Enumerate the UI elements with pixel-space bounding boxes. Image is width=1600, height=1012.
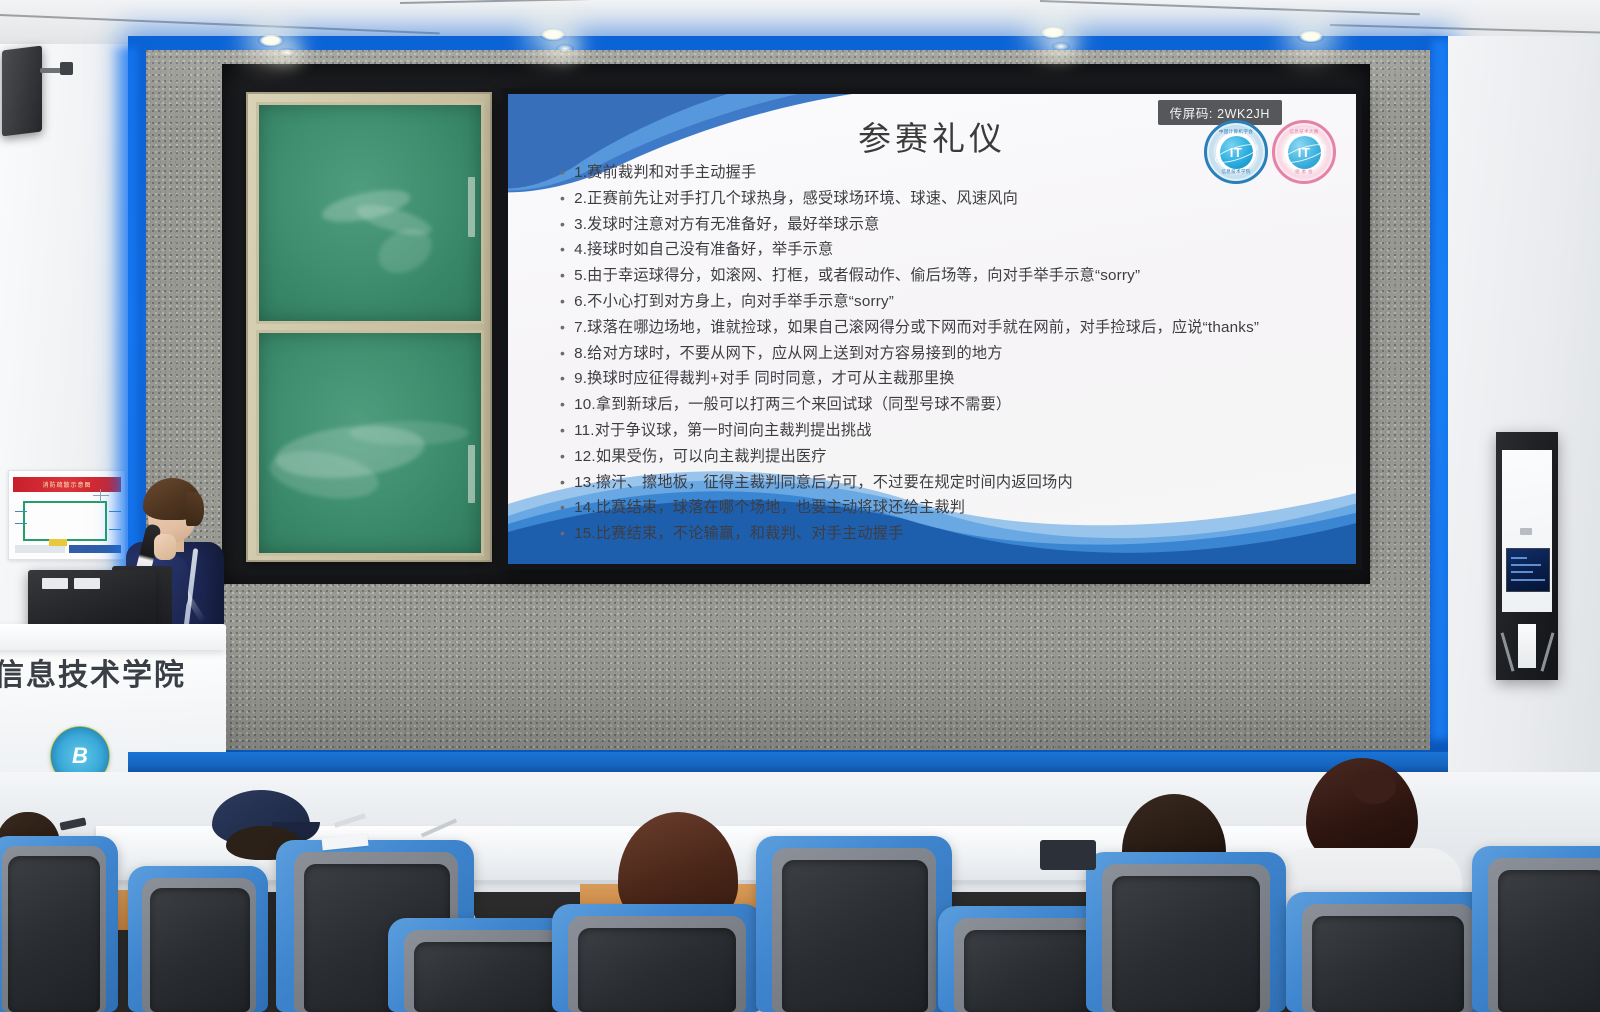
- poster-legend: [49, 539, 67, 546]
- slide-bullet-text: 11.对于争议球，第一时间向主裁判提出挑战: [574, 418, 872, 444]
- projection-screen[interactable]: 传屏码: 2WK2JH 中国计算机学会 信息技术学院 IT 信息技术大赛 组 委…: [502, 88, 1362, 570]
- slide-bullet: •10.拿到新球后，一般可以打两三个来回试球（同型号球不需要）: [560, 392, 1326, 418]
- poster-floorplan: [23, 501, 107, 541]
- chalk-smudge: [266, 444, 382, 506]
- slide-bullet: •8.给对方球时，不要从网下，应从网上送到对方容易接到的地方: [560, 341, 1326, 367]
- blackboard-ruler: [468, 177, 475, 237]
- kiosk-brand-icon: [1520, 528, 1532, 535]
- bullet-marker-icon: •: [560, 289, 565, 315]
- wall-speaker-left: [2, 46, 42, 137]
- slide-bullet: •6.不小心打到对方身上，向对手举手示意“sorry”: [560, 289, 1326, 315]
- bullet-marker-icon: •: [560, 366, 565, 392]
- ceiling-seam: [400, 0, 820, 4]
- hair-bun: [1352, 770, 1396, 804]
- bullet-marker-icon: •: [560, 186, 565, 212]
- presenter-hand: [154, 534, 176, 560]
- kiosk-card-slot[interactable]: [1518, 624, 1536, 668]
- ceiling-downlight: [1298, 30, 1324, 43]
- slide-bullet-text: 12.如果受伤，可以向主裁判提出医疗: [574, 444, 827, 470]
- ceiling-seam: [0, 14, 440, 34]
- kiosk-ui-line: [1511, 579, 1545, 581]
- kiosk-leg: [1501, 632, 1515, 671]
- podium-surface: [0, 624, 226, 650]
- poster-legend: [15, 545, 65, 553]
- slide-bullet: •15.比赛结束，不论输赢，和裁判、对手主动握手: [560, 521, 1326, 547]
- blackboard-ruler: [468, 445, 475, 503]
- bullet-marker-icon: •: [560, 392, 565, 418]
- poster-detail: [100, 489, 101, 502]
- bullet-marker-icon: •: [560, 495, 565, 521]
- slide-bullet-text: 13.擦汗、擦地板，征得主裁判同意后方可，不过要在规定时间内返回场内: [574, 470, 1073, 496]
- poster-header-band: 消防疏散示意图: [13, 477, 121, 492]
- slide-bullet-text: 4.接球时如自己没有准备好，举手示意: [574, 237, 833, 263]
- kiosk-ui-line: [1511, 564, 1541, 566]
- bullet-marker-icon: •: [560, 470, 565, 496]
- blackboard: [246, 92, 492, 562]
- bullet-marker-icon: •: [560, 160, 565, 186]
- slide-bullet-text: 8.给对方球时，不要从网下，应从网上送到对方容易接到的地方: [574, 341, 1003, 367]
- chalk-smudge: [371, 220, 439, 282]
- blackboard-panel-lower: [256, 330, 484, 556]
- slide-canvas: 传屏码: 2WK2JH 中国计算机学会 信息技术学院 IT 信息技术大赛 组 委…: [508, 94, 1356, 564]
- bullet-marker-icon: •: [560, 315, 565, 341]
- ceiling-downlight: [1052, 42, 1070, 51]
- ceiling-seam: [1330, 24, 1600, 34]
- bullet-marker-icon: •: [560, 212, 565, 238]
- kiosk-ui-line: [1511, 571, 1533, 573]
- slide-bullet-list: •1.赛前裁判和对手主动握手•2.正赛前先让对手打几个球热身，感受球场环境、球速…: [560, 160, 1326, 547]
- ceiling-downlight: [556, 44, 574, 53]
- slide-bullet: •4.接球时如自己没有准备好，举手示意: [560, 237, 1326, 263]
- speaker-wall-mount: [60, 62, 73, 75]
- slide-bullet-text: 1.赛前裁判和对手主动握手: [574, 160, 756, 186]
- bullet-marker-icon: •: [560, 237, 565, 263]
- lecture-hall-photo: 消防疏散示意图: [0, 0, 1600, 1012]
- kiosk-ui-line: [1511, 557, 1527, 559]
- slide-title: 参赛礼仪: [508, 112, 1356, 160]
- slide-bullet-text: 2.正赛前先让对手打几个球热身，感受球场环境、球速、风速风向: [574, 186, 1018, 212]
- poster-header-text: 消防疏散示意图: [42, 480, 91, 489]
- chalk-smudge: [273, 419, 427, 484]
- monitor-sticker: [42, 578, 68, 589]
- slide-bullet-text: 6.不小心打到对方身上，向对手举手示意“sorry”: [574, 289, 894, 315]
- poster-detail: [93, 495, 109, 496]
- slide-bullet-text: 15.比赛结束，不论输赢，和裁判、对手主动握手: [574, 521, 903, 547]
- poster-tick: [15, 511, 27, 512]
- information-kiosk[interactable]: [1496, 432, 1558, 680]
- ceiling-downlight: [1040, 26, 1066, 39]
- ceiling-downlight: [278, 48, 296, 57]
- blackboard-panel-upper: [256, 102, 484, 324]
- slide-bullet: •13.擦汗、擦地板，征得主裁判同意后方可，不过要在规定时间内返回场内: [560, 470, 1326, 496]
- slide-bullet: •7.球落在哪边场地，谁就捡球，如果自己滚网得分或下网而对手就在网前，对手捡球后…: [560, 315, 1326, 341]
- emblem-letter: B: [72, 743, 88, 769]
- presenter-hair: [186, 492, 204, 526]
- slide-bullet: •3.发球时注意对方有无准备好，最好举球示意: [560, 212, 1326, 238]
- bullet-marker-icon: •: [560, 444, 565, 470]
- bullet-marker-icon: •: [560, 521, 565, 547]
- slide-bullet-text: 7.球落在哪边场地，谁就捡球，如果自己滚网得分或下网而对手就在网前，对手捡球后，…: [574, 315, 1259, 341]
- slide-bullet: •5.由于幸运球得分，如滚网、打框，或者假动作、偷后场等，向对手举手示意“sor…: [560, 263, 1326, 289]
- ceiling-downlight: [540, 28, 566, 41]
- ceiling-seam: [1040, 0, 1420, 15]
- kiosk-leg: [1541, 632, 1555, 671]
- slide-bullet-text: 9.换球时应征得裁判+对手 同时同意，才可从主裁那里换: [574, 366, 954, 392]
- chalk-smudge: [349, 421, 469, 445]
- poster-tick: [15, 523, 27, 524]
- slide-bullet: •11.对于争议球，第一时间向主裁判提出挑战: [560, 418, 1326, 444]
- wall-blue-band: [128, 752, 1448, 774]
- slide-bullet: •12.如果受伤，可以向主裁判提出医疗: [560, 444, 1326, 470]
- podium-label: 信息技术学院: [0, 650, 174, 694]
- kiosk-display[interactable]: [1506, 548, 1550, 592]
- evacuation-map-poster: 消防疏散示意图: [8, 470, 126, 560]
- monitor-sticker: [74, 578, 100, 589]
- slide-bullet-text: 10.拿到新球后，一般可以打两三个来回试球（同型号球不需要）: [574, 392, 1011, 418]
- bullet-marker-icon: •: [560, 418, 565, 444]
- bullet-marker-icon: •: [560, 263, 565, 289]
- chalk-smudge: [319, 184, 412, 228]
- ceiling-downlight: [258, 34, 284, 47]
- chalk-smudge: [353, 199, 434, 242]
- slide-bullet: •9.换球时应征得裁判+对手 同时同意，才可从主裁那里换: [560, 366, 1326, 392]
- bullet-marker-icon: •: [560, 341, 565, 367]
- slide-bullet-text: 14.比赛结束，球落在哪个场地，也要主动将球还给主裁判: [574, 495, 965, 521]
- slide-bullet-text: 5.由于幸运球得分，如滚网、打框，或者假动作、偷后场等，向对手举手示意“sorr…: [574, 263, 1140, 289]
- slide-bullet: •14.比赛结束，球落在哪个场地，也要主动将球还给主裁判: [560, 495, 1326, 521]
- bag: [1040, 840, 1096, 870]
- slide-bullet: •2.正赛前先让对手打几个球热身，感受球场环境、球速、风速风向: [560, 186, 1326, 212]
- slide-bullet: •1.赛前裁判和对手主动握手: [560, 160, 1326, 186]
- slide-bullet-text: 3.发球时注意对方有无准备好，最好举球示意: [574, 212, 879, 238]
